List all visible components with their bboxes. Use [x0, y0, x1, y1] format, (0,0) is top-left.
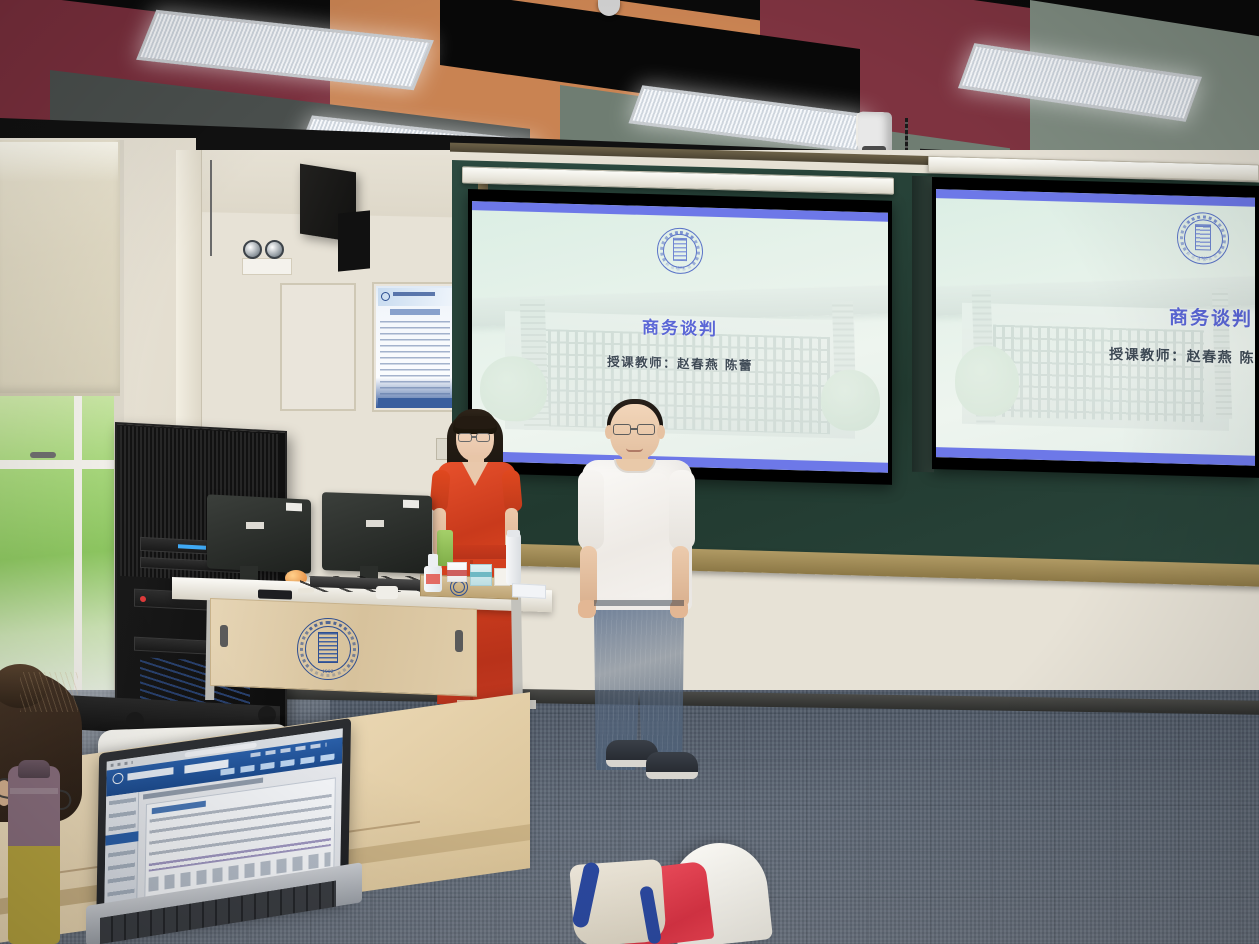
foreground-water-bottle-ring	[10, 788, 58, 794]
man-ear-left	[605, 425, 613, 439]
woman-glasses-bridge	[472, 436, 476, 438]
man-belt-line	[594, 600, 684, 606]
tray-seal-inner-ring	[453, 581, 466, 594]
woman-sleeve-left	[429, 469, 451, 512]
window-mullion-vertical	[74, 396, 82, 702]
woman-glasses-icon-right	[476, 433, 490, 442]
man-sleeve-left	[578, 470, 604, 550]
speaker-bracket	[338, 210, 370, 271]
man-glasses-icon-right	[637, 424, 655, 435]
mouse-pad	[258, 589, 292, 599]
window-latch[interactable]	[30, 452, 56, 458]
man-glasses-bridge	[631, 428, 637, 430]
woman-sleeve-right	[501, 469, 523, 512]
left-slide: 1902 商务谈判 授课教师：赵春燕 陈蕾	[472, 201, 888, 473]
man-sleeve-right	[669, 470, 695, 550]
desk-seal-tower-icon	[318, 632, 337, 663]
round-container	[376, 586, 398, 599]
right-slide: 1902 商务谈判 授课教师：赵春燕 陈	[936, 189, 1255, 466]
right-slide-bottom-bar	[936, 447, 1255, 466]
man-arm-right	[672, 546, 689, 608]
man-glasses-icon-left	[613, 424, 631, 435]
tissue-box-band	[447, 570, 467, 576]
paper-sheet	[512, 583, 546, 599]
blind-light-glow	[0, 142, 118, 182]
poster-footer	[378, 398, 452, 408]
seal-tower-icon	[673, 238, 687, 261]
woman-glasses-icon-left	[458, 433, 472, 442]
desk-handle-left[interactable]	[220, 625, 228, 647]
foreground-water-bottle-cap[interactable]	[18, 760, 50, 778]
bnu-seal-icon: 1902	[657, 227, 703, 274]
monitor-left-label	[286, 503, 302, 512]
monitor-left-badge	[246, 522, 264, 529]
hand-sanitizer-label	[426, 574, 440, 584]
desk-handle-right[interactable]	[455, 630, 463, 652]
campus-tree-right	[821, 369, 879, 431]
wall-panel-blank	[280, 283, 356, 411]
building-windows	[993, 324, 1204, 422]
water-bottle-cap	[507, 530, 520, 537]
rack-caster-right	[258, 706, 276, 724]
emergency-lamp-icon-left	[243, 240, 262, 259]
poster-body-text	[380, 321, 450, 395]
woman-fringe	[455, 416, 496, 429]
rack-caster-left	[126, 712, 144, 730]
woman-waistband	[443, 545, 511, 559]
poster-logo-text	[393, 292, 435, 296]
emergency-light-box	[242, 258, 292, 275]
man-smile	[626, 448, 643, 452]
rack-led-red	[140, 596, 146, 602]
man-ear-right	[657, 425, 665, 439]
water-bottle	[506, 533, 521, 585]
bnu-seal-icon: 1902	[1177, 212, 1229, 265]
poster-seal-icon	[381, 292, 390, 301]
monitor-right-label	[403, 500, 419, 509]
desk-bnu-seal-icon: 1902	[297, 618, 359, 680]
foreground-person-hair-strands	[20, 672, 78, 712]
desk-seal-year: 1902	[298, 670, 358, 675]
window-mullion-horizontal	[0, 460, 114, 469]
seal-tower-icon	[1195, 224, 1211, 250]
wipes-box-band	[470, 572, 492, 577]
poster-title-bar	[390, 309, 440, 315]
window-glass	[0, 396, 114, 702]
classroom-photo: 1902 商务谈判 授课教师：赵春燕 陈 190	[0, 0, 1259, 944]
hand-sanitizer-pump[interactable]	[428, 554, 438, 567]
left-projection-screen: 1902 商务谈判 授课教师：赵春燕 陈蕾	[468, 189, 892, 485]
right-projection-screen: 1902 商务谈判 授课教师：赵春燕 陈	[932, 177, 1259, 478]
emergency-lamp-icon-right	[265, 240, 284, 259]
green-bag	[437, 530, 453, 566]
speaker-wire	[210, 160, 212, 256]
right-screen-side-bezel	[912, 176, 934, 473]
monitor-right-badge	[366, 520, 384, 527]
teacher-desk-leg-right	[511, 597, 523, 705]
left-slide-top-bar	[472, 201, 888, 222]
right-slide-top-bar	[936, 189, 1255, 207]
man-shoe-right-sole	[646, 772, 698, 779]
man-arm-left	[580, 546, 597, 608]
building-windows	[530, 328, 830, 434]
